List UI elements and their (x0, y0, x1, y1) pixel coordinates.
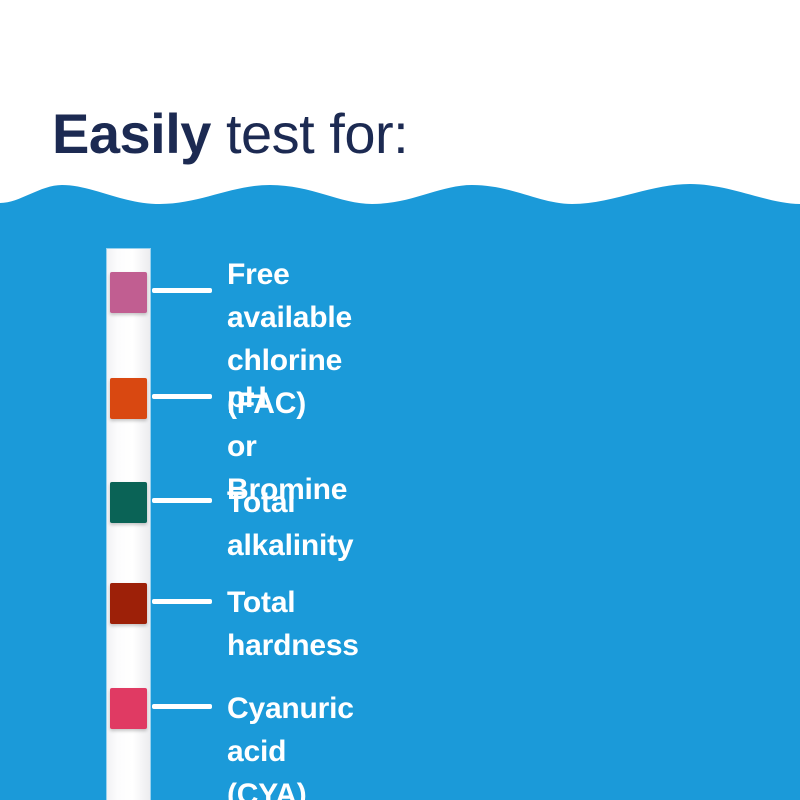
connector-line-icon (152, 498, 212, 503)
pad-ph (110, 378, 147, 419)
connector-line-icon (152, 704, 212, 709)
connector-line-icon (152, 599, 212, 604)
pad-total-alkalinity (110, 482, 147, 523)
pad-free-chlorine (110, 272, 147, 313)
pad-total-hardness (110, 583, 147, 624)
list-item-label: pH (227, 376, 267, 419)
page-title: Easily test for: (52, 100, 408, 168)
list-item-label: Total hardness (227, 581, 359, 667)
test-strip-body (107, 249, 150, 800)
page-title-emphasis: Easily (52, 102, 211, 165)
list-item-label: Cyanuric acid (CYA) (227, 687, 354, 800)
page-title-rest: test for: (211, 102, 408, 165)
promo-panel: Easily test for: Free available chlorine… (0, 0, 800, 800)
pool-test-strip (107, 249, 150, 800)
connector-line-icon (152, 394, 212, 399)
pad-cyanuric-acid (110, 688, 147, 729)
list-item-label: Total alkalinity (227, 481, 353, 567)
connector-line-icon (152, 288, 212, 293)
